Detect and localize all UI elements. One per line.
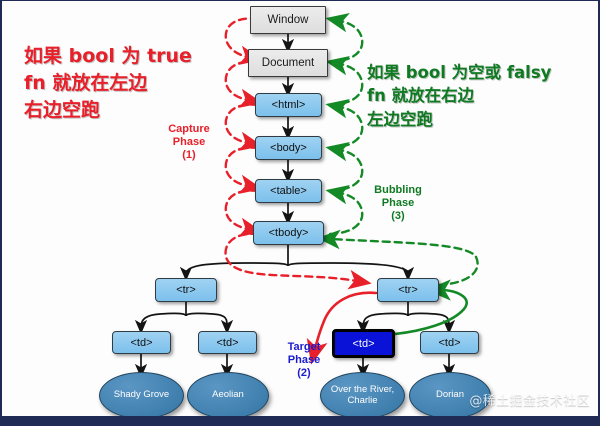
bubbling-phase-label: Bubbling Phase (3) xyxy=(357,184,439,223)
right-annotation-note: 如果 bool 为空或 falsy fn 就放在右边 左边空跑 xyxy=(367,61,551,131)
diagram-canvas: 如果 bool 为 true fn 就放在左边 右边空跑 如果 bool 为空或… xyxy=(0,0,600,426)
watermark: @稀土掘金技术社区 xyxy=(469,390,590,409)
node-td-4[interactable]: <td> xyxy=(420,331,479,354)
node-tr-1[interactable]: <tr> xyxy=(155,278,217,302)
node-window[interactable]: Window xyxy=(250,6,326,34)
leaf-over-the-river-charlie[interactable]: Over the River, Charlie xyxy=(320,372,405,419)
capture-phase-label: Capture Phase (1) xyxy=(150,123,228,162)
left-annotation-note: 如果 bool 为 true fn 就放在左边 右边空跑 xyxy=(24,43,192,124)
bottom-bar xyxy=(2,416,600,426)
node-tbody[interactable]: <tbody> xyxy=(253,221,324,245)
node-body[interactable]: <body> xyxy=(255,136,322,160)
tbody-to-rows xyxy=(186,245,408,274)
leaf-aeolian[interactable]: Aeolian xyxy=(187,372,269,419)
node-html[interactable]: <html> xyxy=(255,93,322,117)
node-td-2[interactable]: <td> xyxy=(198,331,257,354)
node-tr-2[interactable]: <tr> xyxy=(377,278,439,302)
row1-to-cells xyxy=(141,302,227,327)
node-document[interactable]: Document xyxy=(248,49,328,77)
node-td-target[interactable]: <td> xyxy=(332,329,395,358)
node-td-1[interactable]: <td> xyxy=(112,331,171,354)
target-phase-label: Target Phase (2) xyxy=(274,341,334,380)
row2-to-cells xyxy=(363,302,449,327)
leaf-shady-grove[interactable]: Shady Grove xyxy=(99,372,184,419)
node-table[interactable]: <table> xyxy=(255,179,322,203)
